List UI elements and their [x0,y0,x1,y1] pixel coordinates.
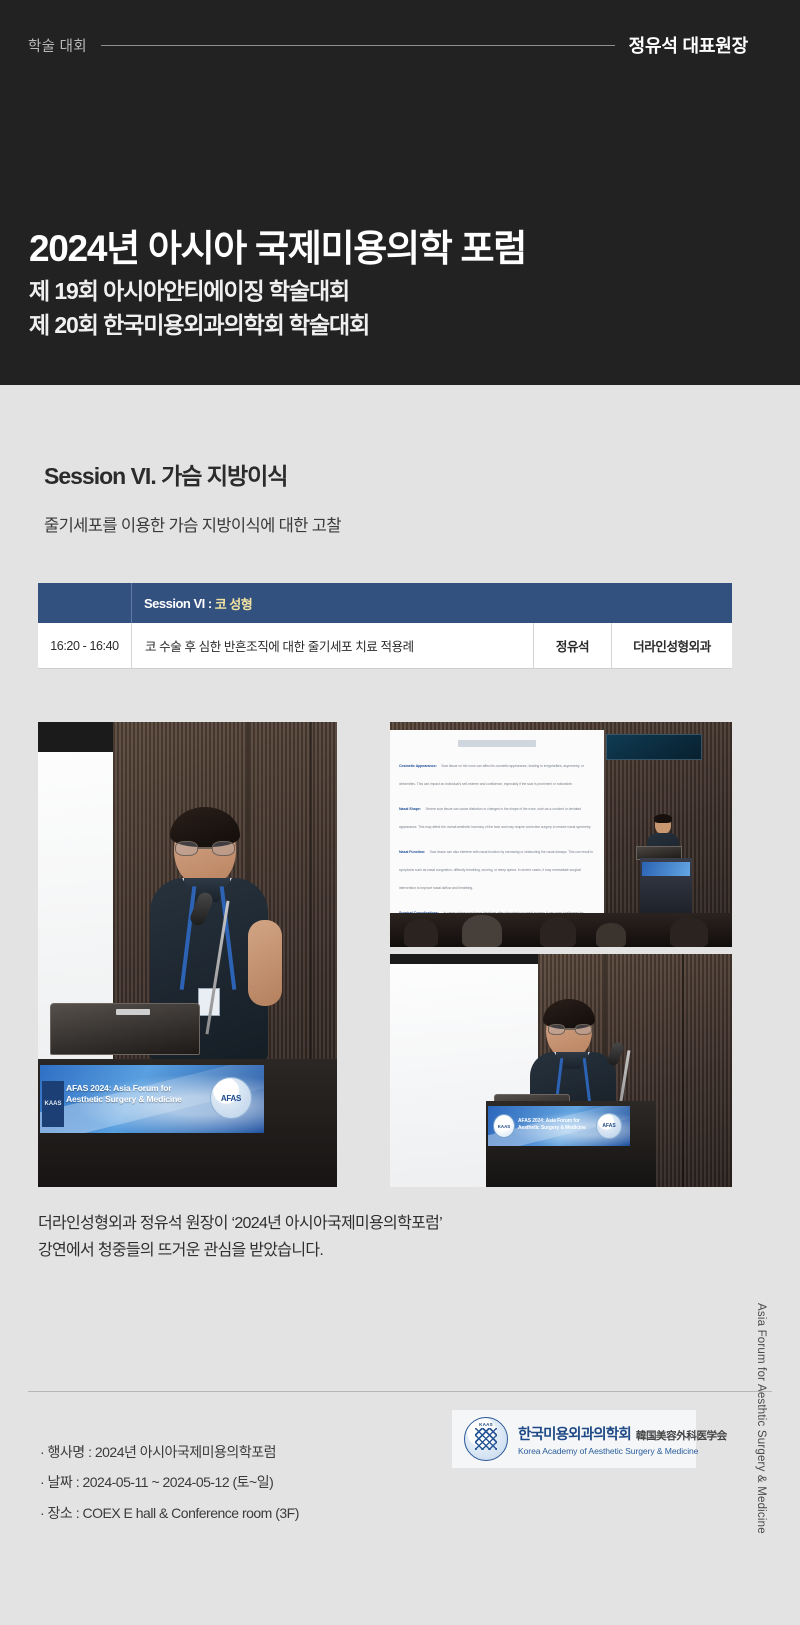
footer-event-info: · 행사명 : 2024년 아시아국제미용의학포럼 · 날짜 : 2024-05… [40,1437,299,1528]
page-title: 2024년 아시아 국제미용의학 포럼 [29,228,526,269]
schedule-header-accent: 코 성형 [215,594,253,613]
slide-title-bar [458,740,536,747]
hero-section: 학술 대회 정유석 대표원장 2024년 아시아 국제미용의학 포럼 제 19회… [0,0,800,385]
photo-main-speaker: KAAS AFAS 2024: Asia Forum for Aesthetic… [38,722,337,1187]
photo-wide-stage: KAAS AFAS 2024: Asia Forum for Aesthetic… [390,954,732,1187]
photo-collage: KAAS AFAS 2024: Asia Forum for Aesthetic… [38,722,732,1187]
row-clinic: 더라인성형외과 [612,623,732,668]
kaas-emblem-icon: KAAS [464,1417,508,1461]
photo-caption: 더라인성형외과 정유석 원장이 ‘2024년 아시아국제미용의학포럼’ 강연에서… [38,1211,442,1265]
podium: KAAS AFAS 2024: Asia Forum for Aesthetic… [38,1059,337,1187]
afas-logo-icon: AFAS [596,1113,622,1139]
slide-bullet-body: Scar tissue can also interfere with nasa… [399,850,593,890]
logo-korean-row: 한국미용외과의학회 韓国美容外科医学会 [518,1423,727,1444]
slide-bullet-body: Severe scar tissue can cause distortion … [399,807,591,829]
hero-topbar: 학술 대회 정유석 대표원장 [28,30,748,60]
podium: KAAS AFAS 2024: Asia Forum for Aesthetic… [486,1101,656,1187]
hero-divider-line [101,45,615,46]
glasses-icon [548,1024,592,1035]
podium-banner: KAAS AFAS 2024: Asia Forum for Aesthetic… [488,1106,630,1146]
presentation-slide: Cosmetic Appearance: Scar tissue on the … [390,730,604,922]
footer-info-item: · 행사명 : 2024년 아시아국제미용의학포럼 [40,1437,299,1467]
schedule-header-prefix: Session VI : [144,596,212,611]
afas-logo-icon: AFAS [210,1077,252,1119]
laptop [50,1003,200,1055]
footer-info-item: · 장소 : COEX E hall & Conference room (3F… [40,1498,299,1528]
podium-banner: KAAS AFAS 2024: Asia Forum for Aesthetic… [40,1065,264,1133]
session-description: 줄기세포를 이용한 가슴 지방이식에 대한 고찰 [44,512,341,536]
podium-banner-text: AFAS 2024: Asia Forum for Aesthetic Surg… [518,1118,594,1131]
glasses-icon [175,841,235,856]
slide-bullet-lead: Cosmetic Appearance: [399,764,437,768]
podium-banner-text: AFAS 2024: Asia Forum for Aesthetic Surg… [66,1083,194,1105]
schedule-header-time-cell [38,583,132,623]
schedule-table: Session VI : 코 성형 16:20 - 16:40 코 수술 후 심… [38,583,732,669]
photo-caption-line-1: 더라인성형외과 정유석 원장이 ‘2024년 아시아국제미용의학포럼’ [38,1211,442,1238]
hero-eyebrow: 학술 대회 [28,35,87,56]
poster-page: 학술 대회 정유석 대표원장 2024년 아시아 국제미용의학 포럼 제 19회… [0,0,800,1625]
kaas-logo-icon: KAAS [493,1114,515,1138]
hero-subtitle-2: 제 20회 한국미용외과의학회 학술대회 [29,309,526,342]
photo-slide-and-stage: Cosmetic Appearance: Scar tissue on the … [390,722,732,947]
logo-name-en: Korea Academy of Aesthetic Surgery & Med… [518,1446,727,1456]
photo-caption-line-2: 강연에서 청중들의 뜨거운 관심을 받았습니다. [38,1238,442,1265]
slide-bullet: Cosmetic Appearance: Scar tissue on the … [399,754,595,790]
footer-info-item: · 날짜 : 2024-05-11 ~ 2024-05-12 (토~일) [40,1467,299,1497]
hero-author-name: 정유석 대표원장 [629,32,748,58]
stage-area [604,730,732,922]
stage-screen [606,734,702,760]
kaas-emblem-label: KAAS [479,1422,493,1427]
kaas-logo-icon: KAAS [42,1081,64,1127]
speaker-arm [248,920,282,1006]
logo-text-block: 한국미용외과의학회 韓国美容外科医学会 Korea Academy of Aes… [518,1423,727,1456]
row-speaker: 정유석 [534,623,612,668]
table-row: 16:20 - 16:40 코 수술 후 심한 반흔조직에 대한 줄기세포 치료… [38,623,732,669]
hero-title-block: 2024년 아시아 국제미용의학 포럼 제 19회 아시아안티에이징 학술대회 … [29,228,526,342]
slide-bullet: Nasal Shape: Severe scar tissue can caus… [399,797,595,833]
footer-organization-logo: KAAS 한국미용외과의학회 韓国美容外科医学会 Korea Academy o… [452,1410,696,1468]
row-topic: 코 수술 후 심한 반흔조직에 대한 줄기세포 치료 적용례 [132,623,534,668]
vertical-side-label: Asia Forum for Aesthtic Surgery & Medici… [745,1303,767,1534]
slide-bullet-lead: Nasal Shape: [399,807,421,811]
schedule-table-header: Session VI : 코 성형 [38,583,732,623]
footer-divider [28,1391,772,1392]
audience-silhouettes [390,913,732,947]
logo-name-kr: 한국미용외과의학회 [518,1423,631,1444]
speaker-hair [654,814,672,823]
row-time: 16:20 - 16:40 [38,623,132,668]
kaas-diamond-shape [475,1428,497,1450]
body-section: Session VI. 가슴 지방이식 줄기세포를 이용한 가슴 지방이식에 대… [0,385,800,1625]
logo-name-cn: 韓国美容外科医学会 [636,1428,727,1443]
hero-subtitle-1: 제 19회 아시아안티에이징 학술대회 [29,275,526,308]
session-heading: Session VI. 가슴 지방이식 [44,457,287,491]
podium-banner [642,862,690,876]
slide-bullet: Nasal Function: Scar tissue can also int… [399,840,595,894]
slide-bullet-lead: Nasal Function: [399,850,425,854]
schedule-header-title-cell: Session VI : 코 성형 [132,583,732,623]
